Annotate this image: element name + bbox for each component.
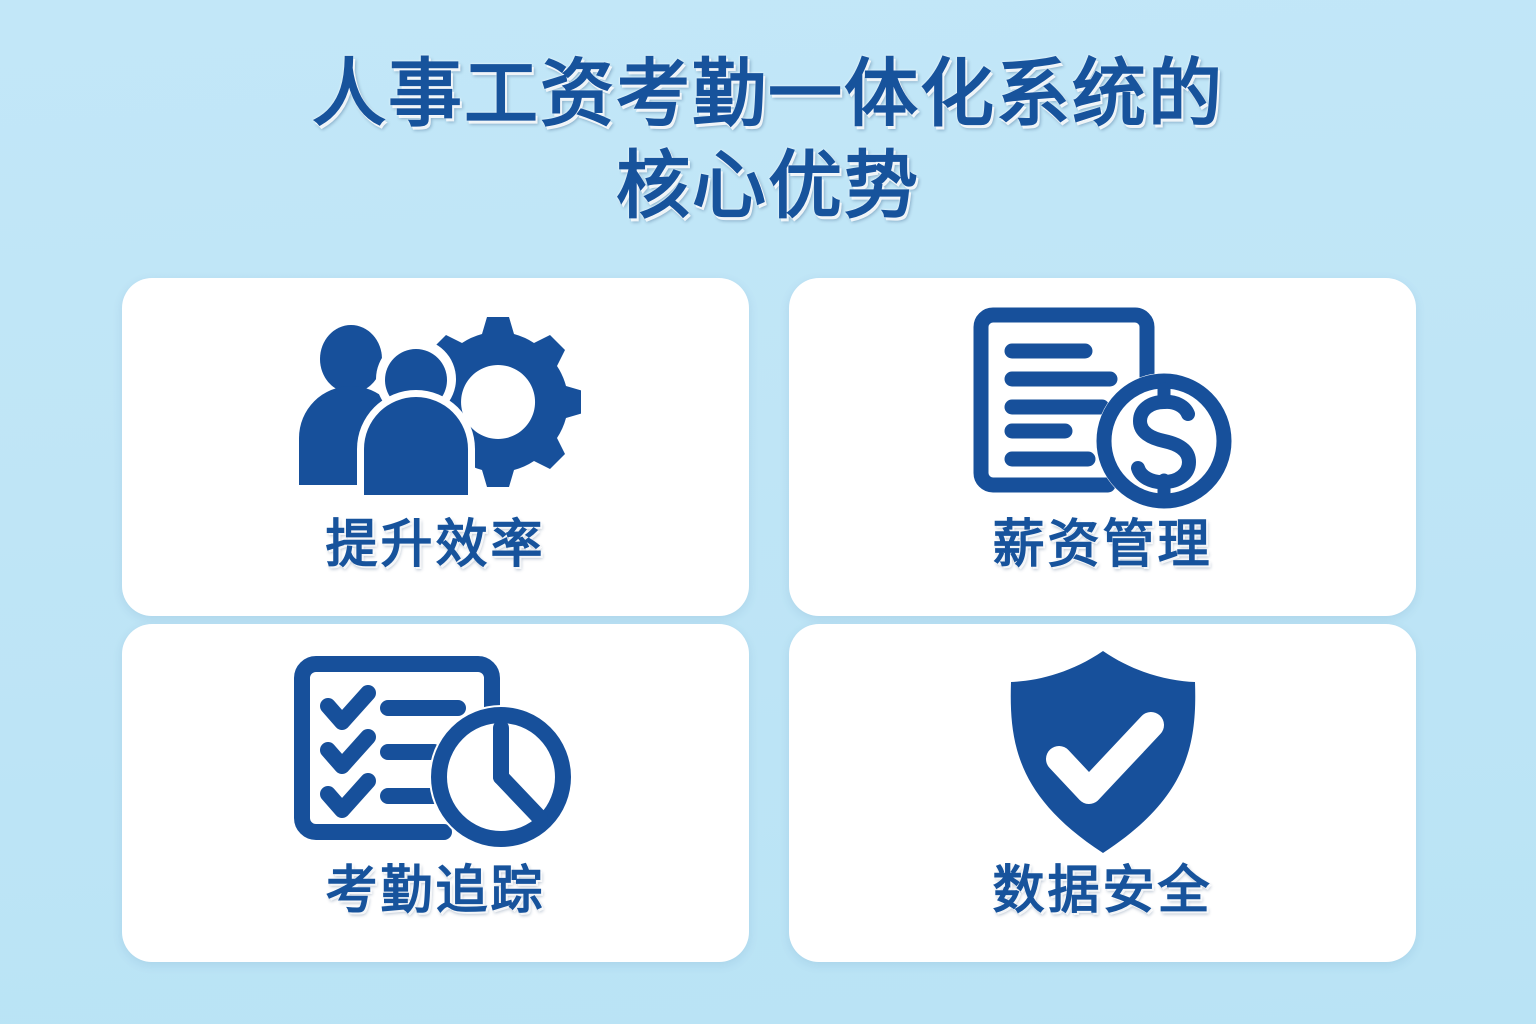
card-label-efficiency: 提升效率 — [325, 514, 545, 576]
infographic-poster: 人事工资考勤一体化系统的 核心优势 — [0, 0, 1536, 1024]
title-line-2: 核心优势 — [0, 140, 1536, 232]
title-line-1: 人事工资考勤一体化系统的 — [0, 48, 1536, 140]
shield-check-icon — [953, 648, 1253, 858]
benefit-card-grid: 提升效率 — [122, 278, 1416, 962]
card-efficiency[interactable]: 提升效率 — [122, 278, 749, 616]
card-attendance[interactable]: 考勤追踪 — [122, 624, 749, 962]
card-label-security: 数据安全 — [992, 860, 1212, 922]
card-security[interactable]: 数据安全 — [789, 624, 1416, 962]
card-payroll[interactable]: 薪资管理 — [789, 278, 1416, 616]
document-dollar-icon — [953, 302, 1253, 512]
checklist-clock-icon — [286, 648, 586, 858]
card-label-attendance: 考勤追踪 — [325, 860, 545, 922]
card-label-payroll: 薪资管理 — [992, 514, 1212, 576]
people-gear-icon — [286, 302, 586, 512]
poster-title: 人事工资考勤一体化系统的 核心优势 — [0, 48, 1536, 232]
